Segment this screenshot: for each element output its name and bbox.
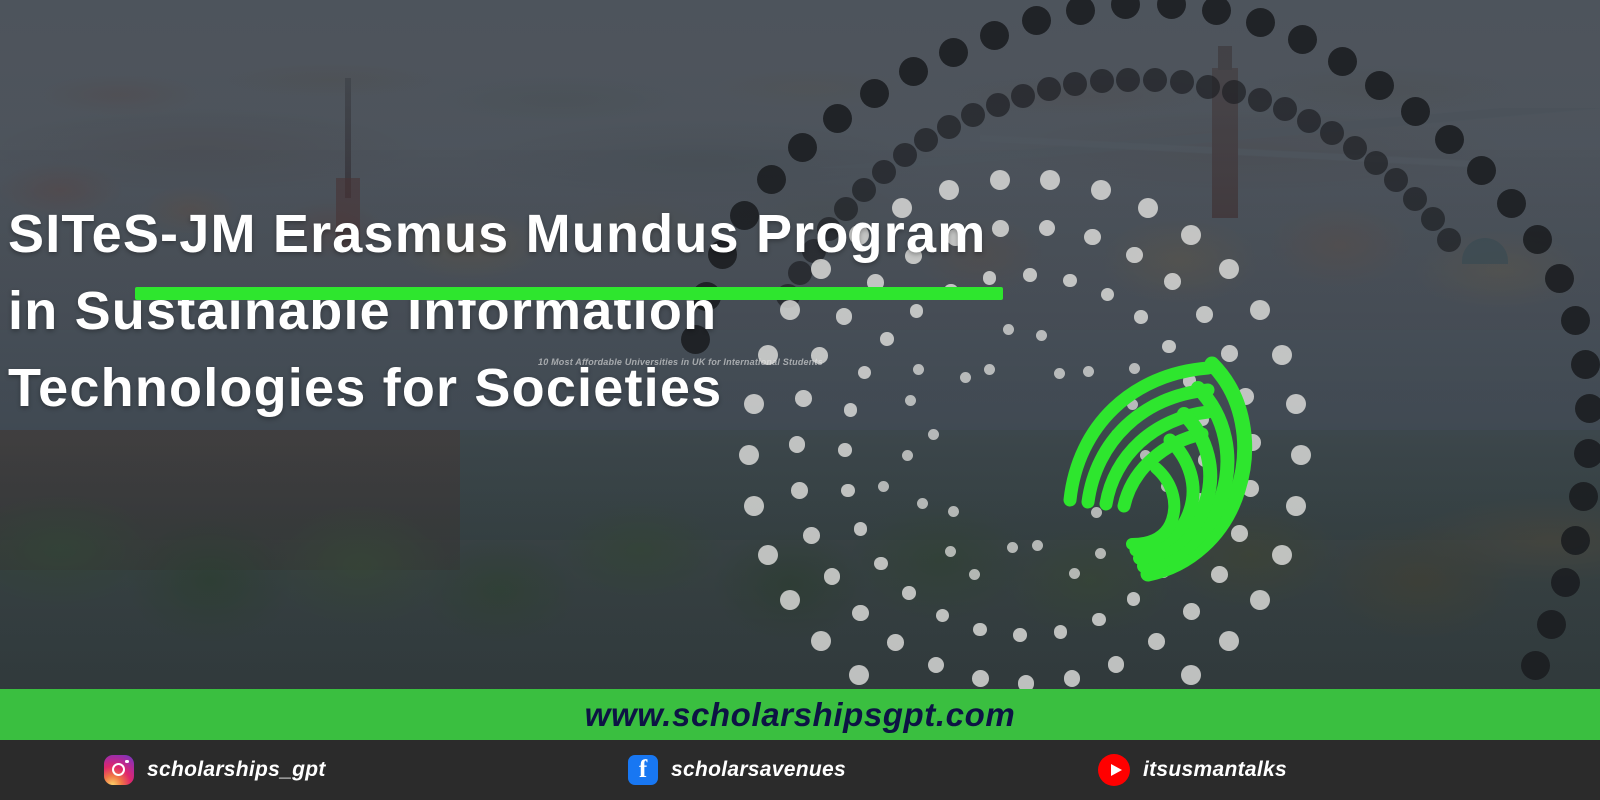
dark-dotted-arc [1288,25,1317,54]
light-dotted-arc [811,631,831,651]
dark-dotted-arc [1384,168,1408,192]
light-dotted-arc [1286,394,1306,414]
light-dotted-arc [969,569,980,580]
facebook-icon: f [628,755,658,785]
light-dotted-arc [803,527,820,544]
light-dotted-arc [1134,310,1148,324]
headline-green-underline [135,287,1003,300]
light-dotted-arc [1013,628,1027,642]
dark-dotted-arc [1401,97,1430,126]
light-dotted-arc [739,445,759,465]
light-dotted-arc [1219,631,1239,651]
light-dotted-arc [1196,306,1213,323]
light-dotted-arc [1219,259,1239,279]
dark-dotted-arc [1435,125,1464,154]
light-dotted-arc [780,590,800,610]
dark-dotted-arc [1437,228,1461,252]
website-url[interactable]: www.scholarshipsgpt.com [0,689,1600,740]
dark-dotted-arc [860,79,889,108]
dark-dotted-arc [1037,77,1061,101]
dark-dotted-arc [1497,189,1526,218]
dark-dotted-arc [1574,439,1600,468]
light-dotted-arc [838,443,852,457]
light-dotted-arc [1272,545,1292,565]
dark-dotted-arc [899,57,928,86]
light-dotted-arc [990,170,1010,190]
light-dotted-arc [841,484,855,498]
instagram-handle: scholarships_gpt [147,758,326,782]
light-dotted-arc [1126,247,1143,264]
social-bar: scholarships_gpt f scholarsavenues itsus… [0,740,1600,800]
dark-dotted-arc [1143,68,1167,92]
light-dotted-arc [849,665,869,685]
dark-dotted-arc [1066,0,1095,25]
dark-dotted-arc [1328,47,1357,76]
dark-dotted-arc [1022,6,1051,35]
dark-dotted-arc [1521,651,1550,680]
dark-dotted-arc [1571,350,1600,379]
light-dotted-arc [789,436,806,453]
light-dotted-arc [1286,496,1306,516]
light-dotted-arc [902,450,913,461]
light-dotted-arc [936,609,950,623]
light-dotted-arc [1272,345,1292,365]
banner-headline: SITeS-JM Erasmus Mundus Program in Susta… [8,196,1128,427]
dark-dotted-arc [1561,526,1590,555]
dark-dotted-arc [1551,568,1580,597]
dark-dotted-arc [1320,121,1344,145]
dark-dotted-arc [823,104,852,133]
light-dotted-arc [1181,225,1201,245]
dark-dotted-arc [1222,80,1246,104]
social-item-facebook[interactable]: f scholarsavenues [628,755,846,785]
light-dotted-arc [902,586,916,600]
light-dotted-arc [878,481,889,492]
light-dotted-arc [1183,603,1200,620]
dark-dotted-arc [980,21,1009,50]
dark-dotted-arc [961,103,985,127]
light-dotted-arc [854,522,868,536]
dark-dotted-arc [788,133,817,162]
dark-dotted-arc [1523,225,1552,254]
light-dotted-arc [1054,625,1068,639]
light-dotted-arc [852,605,869,622]
dark-dotted-arc [914,128,938,152]
dark-dotted-arc [1063,72,1087,96]
dark-dotted-arc [1273,97,1297,121]
light-dotted-arc [1092,613,1106,627]
light-dotted-arc [917,498,928,509]
dark-dotted-arc [1011,84,1035,108]
light-dotted-arc [1064,670,1081,687]
dark-dotted-arc [1170,70,1194,94]
light-dotted-arc [1148,633,1165,650]
dark-dotted-arc [1343,136,1367,160]
youtube-handle: itsusmantalks [1143,758,1287,782]
dark-dotted-arc [1545,264,1574,293]
dark-dotted-arc [1364,151,1388,175]
light-dotted-arc [791,482,808,499]
light-dotted-arc [972,670,989,687]
headline-line-1: SITeS-JM Erasmus Mundus Program [8,196,1128,273]
light-dotted-arc [1250,590,1270,610]
dark-dotted-arc [1575,394,1600,423]
dark-dotted-arc [1090,69,1114,93]
light-dotted-arc [948,506,959,517]
dark-dotted-arc [1157,0,1186,19]
dark-dotted-arc [1202,0,1231,25]
light-dotted-arc [1108,656,1125,673]
dark-dotted-arc [937,115,961,139]
social-item-instagram[interactable]: scholarships_gpt [104,755,326,785]
dark-dotted-arc [1297,109,1321,133]
headline-line-2: in Sustainable Information [8,273,1128,350]
light-dotted-arc [1181,665,1201,685]
dark-dotted-arc [1467,156,1496,185]
light-dotted-arc [1127,592,1141,606]
dark-dotted-arc [1569,482,1598,511]
dark-dotted-arc [757,165,786,194]
light-dotted-arc [1250,300,1270,320]
light-dotted-arc [928,657,945,674]
dark-dotted-arc [1403,187,1427,211]
website-bar: www.scholarshipsgpt.com [0,689,1600,740]
light-dotted-arc [824,568,841,585]
light-dotted-arc [1040,170,1060,190]
instagram-icon [104,755,134,785]
promo-banner: SITeS-JM Erasmus Mundus Program in Susta… [0,0,1600,800]
dark-dotted-arc [1537,610,1566,639]
dark-dotted-arc [1365,71,1394,100]
light-dotted-arc [874,557,888,571]
dark-dotted-arc [986,93,1010,117]
dark-dotted-arc [1196,75,1220,99]
dark-dotted-arc [1111,0,1140,19]
dark-dotted-arc [1421,207,1445,231]
dark-dotted-arc [939,38,968,67]
light-dotted-arc [1164,273,1181,290]
light-dotted-arc [928,429,939,440]
background-watermark-text: 10 Most Affordable Universities in UK fo… [538,357,823,367]
youtube-icon [1098,754,1130,786]
dark-dotted-arc [1246,8,1275,37]
light-dotted-arc [758,545,778,565]
dark-dotted-arc [1116,68,1140,92]
light-dotted-arc [887,634,904,651]
dark-dotted-arc [872,160,896,184]
light-dotted-arc [744,496,764,516]
social-item-youtube[interactable]: itsusmantalks [1098,754,1287,786]
dark-dotted-arc [1248,88,1272,112]
dark-dotted-arc [893,143,917,167]
light-dotted-arc [1291,445,1311,465]
light-dotted-arc [945,546,956,557]
facebook-handle: scholarsavenues [671,758,846,782]
light-dotted-arc [1138,198,1158,218]
light-dotted-arc [973,623,987,637]
dark-dotted-arc [1561,306,1590,335]
